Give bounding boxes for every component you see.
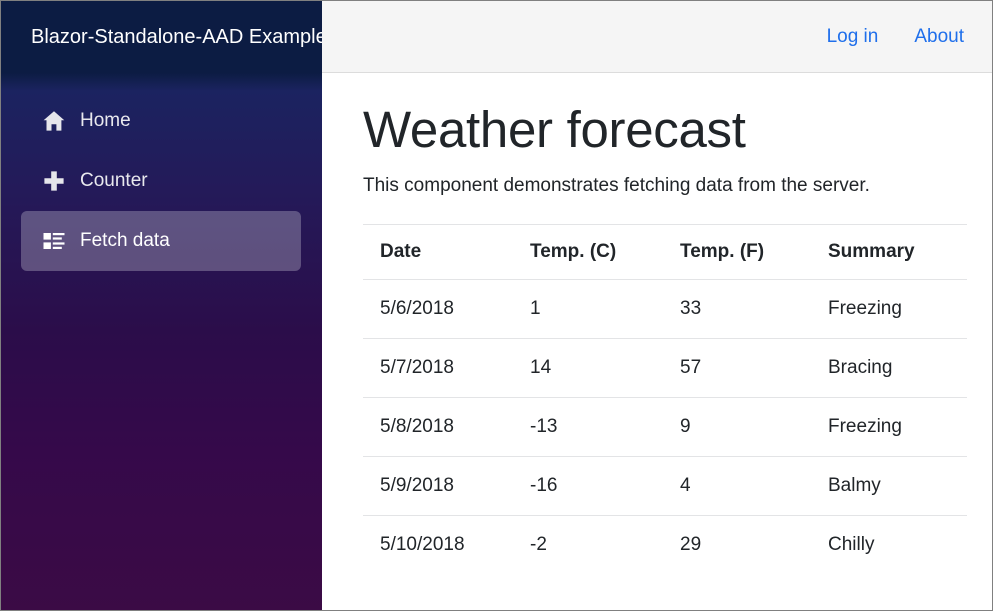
app-window: Blazor-Standalone-AAD Example Home Count… <box>0 0 993 611</box>
cell-date: 5/6/2018 <box>363 280 513 339</box>
about-link[interactable]: About <box>914 26 964 48</box>
cell-summary: Bracing <box>811 339 967 398</box>
cell-date: 5/7/2018 <box>363 339 513 398</box>
page-subtitle: This component demonstrates fetching dat… <box>363 174 965 198</box>
cell-date: 5/9/2018 <box>363 457 513 516</box>
column-header-temp-c: Temp. (C) <box>513 225 663 280</box>
cell-summary: Freezing <box>811 280 967 339</box>
table-row: 5/6/2018 1 33 Freezing <box>363 280 967 339</box>
cell-temp-f: 29 <box>663 516 811 575</box>
cell-temp-c: 14 <box>513 339 663 398</box>
sidebar-item-label: Fetch data <box>80 230 170 252</box>
cell-summary: Balmy <box>811 457 967 516</box>
weather-forecast-table: Date Temp. (C) Temp. (F) Summary 5/6/201… <box>363 224 967 574</box>
column-header-temp-f: Temp. (F) <box>663 225 811 280</box>
cell-temp-f: 4 <box>663 457 811 516</box>
sidebar-nav: Home Counter <box>1 91 322 271</box>
column-header-summary: Summary <box>811 225 967 280</box>
plus-icon <box>41 168 67 194</box>
table-row: 5/10/2018 -2 29 Chilly <box>363 516 967 575</box>
cell-temp-c: -16 <box>513 457 663 516</box>
home-icon <box>41 108 67 134</box>
top-navigation-bar: Log in About <box>322 1 992 73</box>
brand-bar[interactable]: Blazor-Standalone-AAD Example <box>1 1 322 73</box>
app-brand-title: Blazor-Standalone-AAD Example <box>31 25 322 49</box>
sidebar-item-counter[interactable]: Counter <box>21 151 301 211</box>
cell-temp-f: 9 <box>663 398 811 457</box>
page-title: Weather forecast <box>363 100 965 160</box>
sidebar-item-label: Home <box>80 110 131 132</box>
table-row: 5/8/2018 -13 9 Freezing <box>363 398 967 457</box>
cell-summary: Freezing <box>811 398 967 457</box>
list-icon <box>41 228 67 254</box>
main-content: Weather forecast This component demonstr… <box>322 74 992 610</box>
sidebar-item-home[interactable]: Home <box>21 91 301 151</box>
cell-temp-f: 57 <box>663 339 811 398</box>
table-header: Date Temp. (C) Temp. (F) Summary <box>363 225 967 280</box>
cell-temp-c: -13 <box>513 398 663 457</box>
cell-temp-c: -2 <box>513 516 663 575</box>
cell-date: 5/10/2018 <box>363 516 513 575</box>
cell-summary: Chilly <box>811 516 967 575</box>
sidebar: Blazor-Standalone-AAD Example Home Count… <box>1 1 322 611</box>
sidebar-item-label: Counter <box>80 170 148 192</box>
table-header-row: Date Temp. (C) Temp. (F) Summary <box>363 225 967 280</box>
table-body: 5/6/2018 1 33 Freezing 5/7/2018 14 57 Br… <box>363 280 967 575</box>
login-link[interactable]: Log in <box>827 26 879 48</box>
sidebar-item-fetch-data[interactable]: Fetch data <box>21 211 301 271</box>
table-row: 5/7/2018 14 57 Bracing <box>363 339 967 398</box>
cell-temp-c: 1 <box>513 280 663 339</box>
cell-temp-f: 33 <box>663 280 811 339</box>
column-header-date: Date <box>363 225 513 280</box>
cell-date: 5/8/2018 <box>363 398 513 457</box>
table-row: 5/9/2018 -16 4 Balmy <box>363 457 967 516</box>
